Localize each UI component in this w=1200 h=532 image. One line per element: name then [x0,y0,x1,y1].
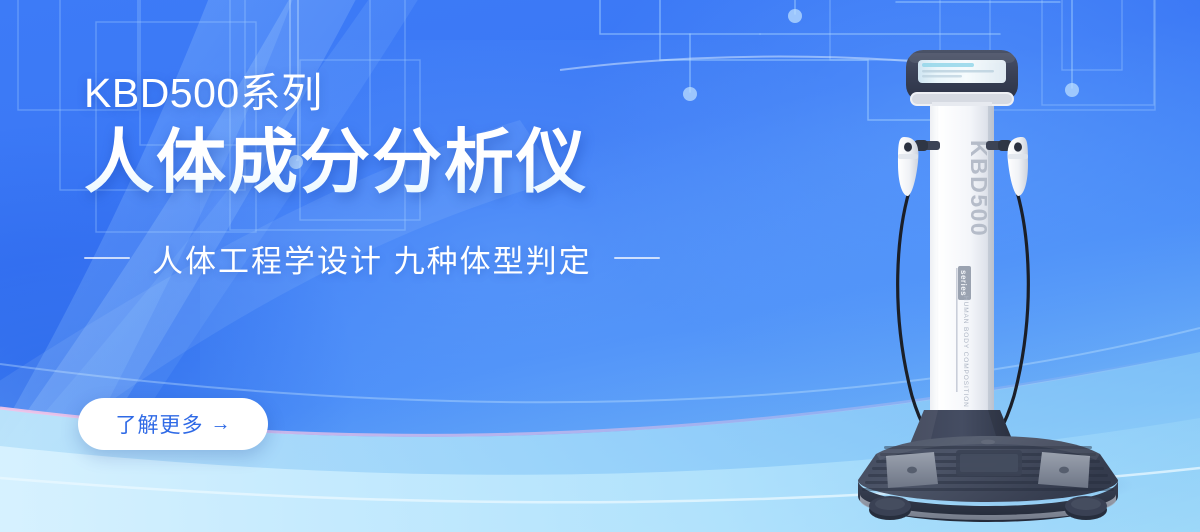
device-levelling-foot-right [1065,496,1107,520]
eyebrow-text: KBD500系列 [84,70,724,117]
body-composition-analyzer-product-image: KBD500 series HUMAN BODY COMPOSITION ANA… [838,44,1138,522]
learn-more-button[interactable]: 了解更多 → [78,398,268,450]
device-brand-text: KBD500 [966,140,992,237]
device-foot-electrode-right [1038,452,1090,488]
arrow-right-icon: → [211,414,231,434]
learn-more-label: 了解更多 [116,409,204,439]
device-heel-plate [956,450,1022,476]
hero-banner: KBD500系列 人体成分分析仪 人体工程学设计 九种体型判定 了解更多 → [0,0,1200,532]
device-levelling-foot-left [869,496,911,520]
device-foot-electrode-left [886,452,938,488]
device-column: KBD500 series HUMAN BODY COMPOSITION ANA… [930,106,994,451]
device-base-platform [858,436,1118,522]
device-series-badge: series [958,266,971,300]
subtitle-text: 人体工程学设计 九种体型判定 [152,236,592,281]
subtitle-rule-left [84,257,130,259]
subtitle-rule-right [614,257,660,259]
subtitle-row: 人体工程学设计 九种体型判定 [84,236,724,281]
hero-copy: KBD500系列 人体成分分析仪 人体工程学设计 九种体型判定 [84,70,724,281]
device-display-head [906,50,1018,106]
page-title: 人体成分分析仪 [84,123,724,201]
svg-text:series: series [959,270,968,296]
